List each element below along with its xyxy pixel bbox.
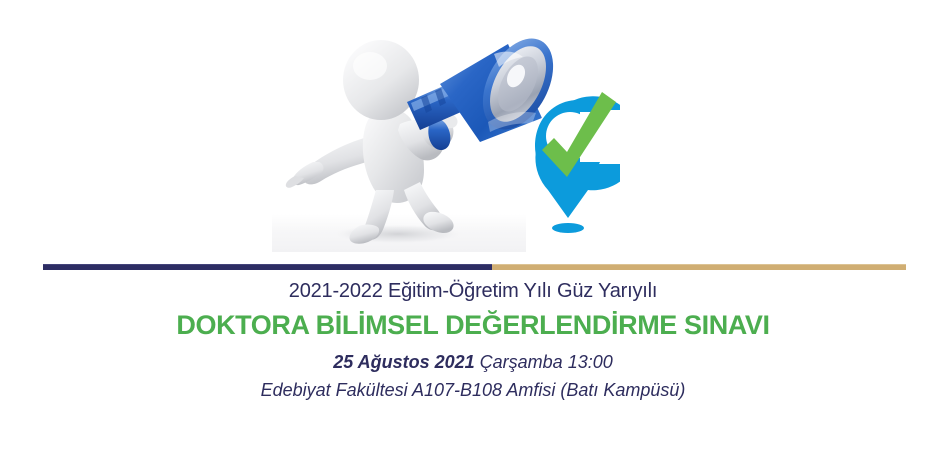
divider-segment-gold [492, 264, 906, 270]
exam-weekday-time: Çarşamba 13:00 [475, 352, 613, 372]
announcement-banner: 2021-2022 Eğitim-Öğretim Yılı Güz Yarıyı… [0, 0, 946, 472]
exam-title: DOKTORA BİLİMSEL DEĞERLENDİRME SINAVI [0, 306, 946, 344]
exam-date: 25 Ağustos 2021 [333, 352, 474, 372]
divider-bar [43, 264, 906, 270]
divider-segment-navy [43, 264, 492, 270]
pin-shadow-ellipse [552, 223, 584, 233]
figure-head [343, 40, 419, 120]
academic-term-line: 2021-2022 Eğitim-Öğretim Yılı Güz Yarıyı… [0, 278, 946, 304]
illustration-area [0, 0, 946, 258]
person-with-megaphone-illustration [280, 18, 620, 250]
figure-head-highlight [353, 52, 387, 80]
exam-venue-line: Edebiyat Fakültesi A107-B108 Amfisi (Bat… [0, 378, 946, 403]
exam-datetime-line: 25 Ağustos 2021 Çarşamba 13:00 [0, 350, 946, 375]
announcement-text-block: 2021-2022 Eğitim-Öğretim Yılı Güz Yarıyı… [0, 278, 946, 403]
